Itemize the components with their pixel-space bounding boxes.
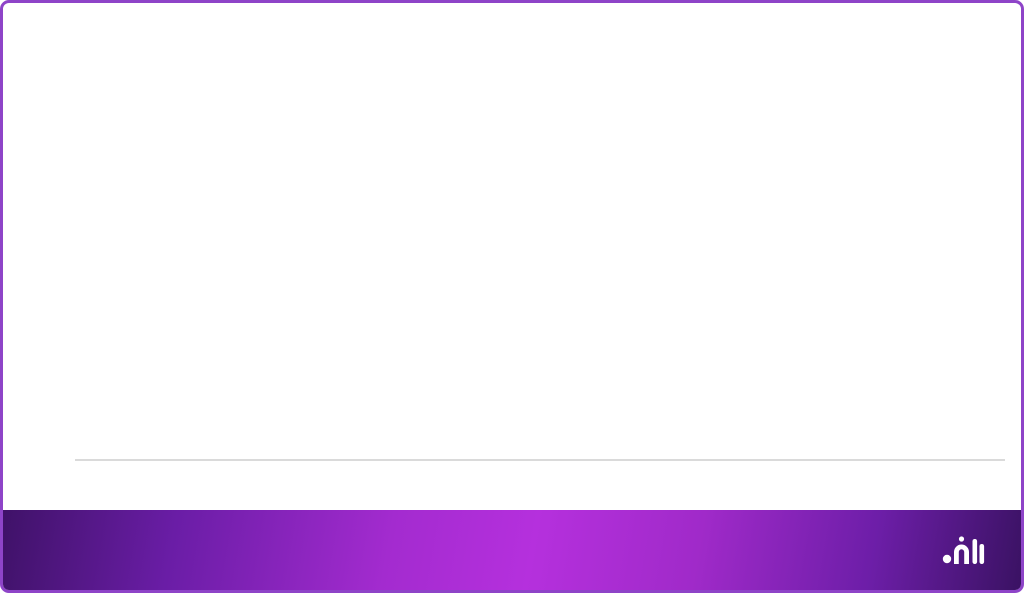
chart-plot-area	[3, 99, 1021, 499]
infographic-card	[0, 0, 1024, 593]
bar-series-group	[79, 99, 1001, 459]
x-axis	[79, 465, 1001, 495]
chart-header	[27, 11, 997, 19]
axis-baseline	[75, 459, 1005, 461]
y-axis	[3, 99, 71, 459]
market-us-logo-icon	[942, 533, 986, 567]
footer-banner	[3, 510, 1021, 590]
market-us-logo[interactable]	[942, 533, 995, 567]
